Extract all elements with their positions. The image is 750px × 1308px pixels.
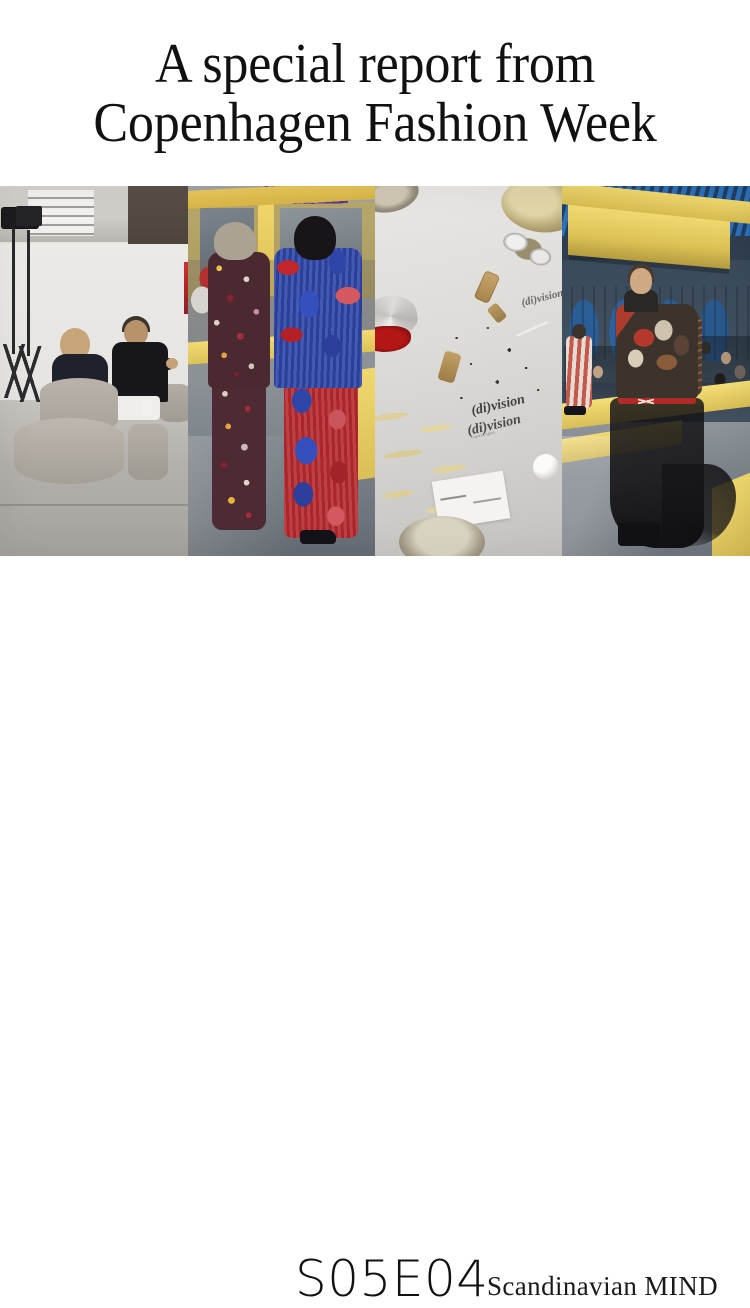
strip-panel-talk xyxy=(0,186,188,556)
strip-panel-models xyxy=(188,186,375,556)
strip-panel-table: (di)vision (di)vision (di)vision copenha… xyxy=(375,186,562,556)
brand-wordmark: Scandinavian MIND xyxy=(487,1271,718,1302)
cup-object xyxy=(142,400,152,416)
speaker-b-legs xyxy=(112,396,160,420)
light-stand-pole xyxy=(12,228,15,354)
model-b-shoe xyxy=(300,530,336,544)
image-strip: (di)vision (di)vision (di)vision copenha… xyxy=(0,186,750,556)
model-a-hair xyxy=(214,222,256,260)
episode-code: S05E04 xyxy=(295,1250,489,1308)
model-a-floral-trousers xyxy=(212,382,266,530)
light-stand-pole xyxy=(27,230,30,356)
background-model-head xyxy=(572,324,586,339)
model-boot xyxy=(618,522,660,546)
model-head xyxy=(630,268,652,294)
strip-panel-runway xyxy=(562,186,750,556)
ottoman-seat xyxy=(128,424,168,480)
headline-line-1: A special report from xyxy=(26,36,724,93)
white-ball-object xyxy=(533,454,559,480)
model-b-head xyxy=(294,216,336,260)
speaker-b-body xyxy=(112,342,168,402)
oyster-shells xyxy=(492,220,562,279)
studio-light-icon xyxy=(16,206,42,226)
speaker-b-hand xyxy=(166,358,178,369)
poster-canvas: A special report from Copenhagen Fashion… xyxy=(0,0,750,750)
model-b-printed-trousers xyxy=(284,382,358,538)
model-b-printed-jacket xyxy=(274,248,362,388)
patchwork-jacket xyxy=(616,304,698,398)
ottoman-seat xyxy=(14,418,124,484)
model-a-floral-jacket xyxy=(208,252,270,388)
background-model-body xyxy=(566,336,592,408)
page-title: A special report from Copenhagen Fashion… xyxy=(0,36,750,152)
background-model-shoe xyxy=(564,406,586,415)
footer: S05E04 Scandinavian MIND xyxy=(0,626,750,696)
floor-seam-line xyxy=(0,504,188,506)
headline-line-2: Copenhagen Fashion Week xyxy=(26,95,724,152)
